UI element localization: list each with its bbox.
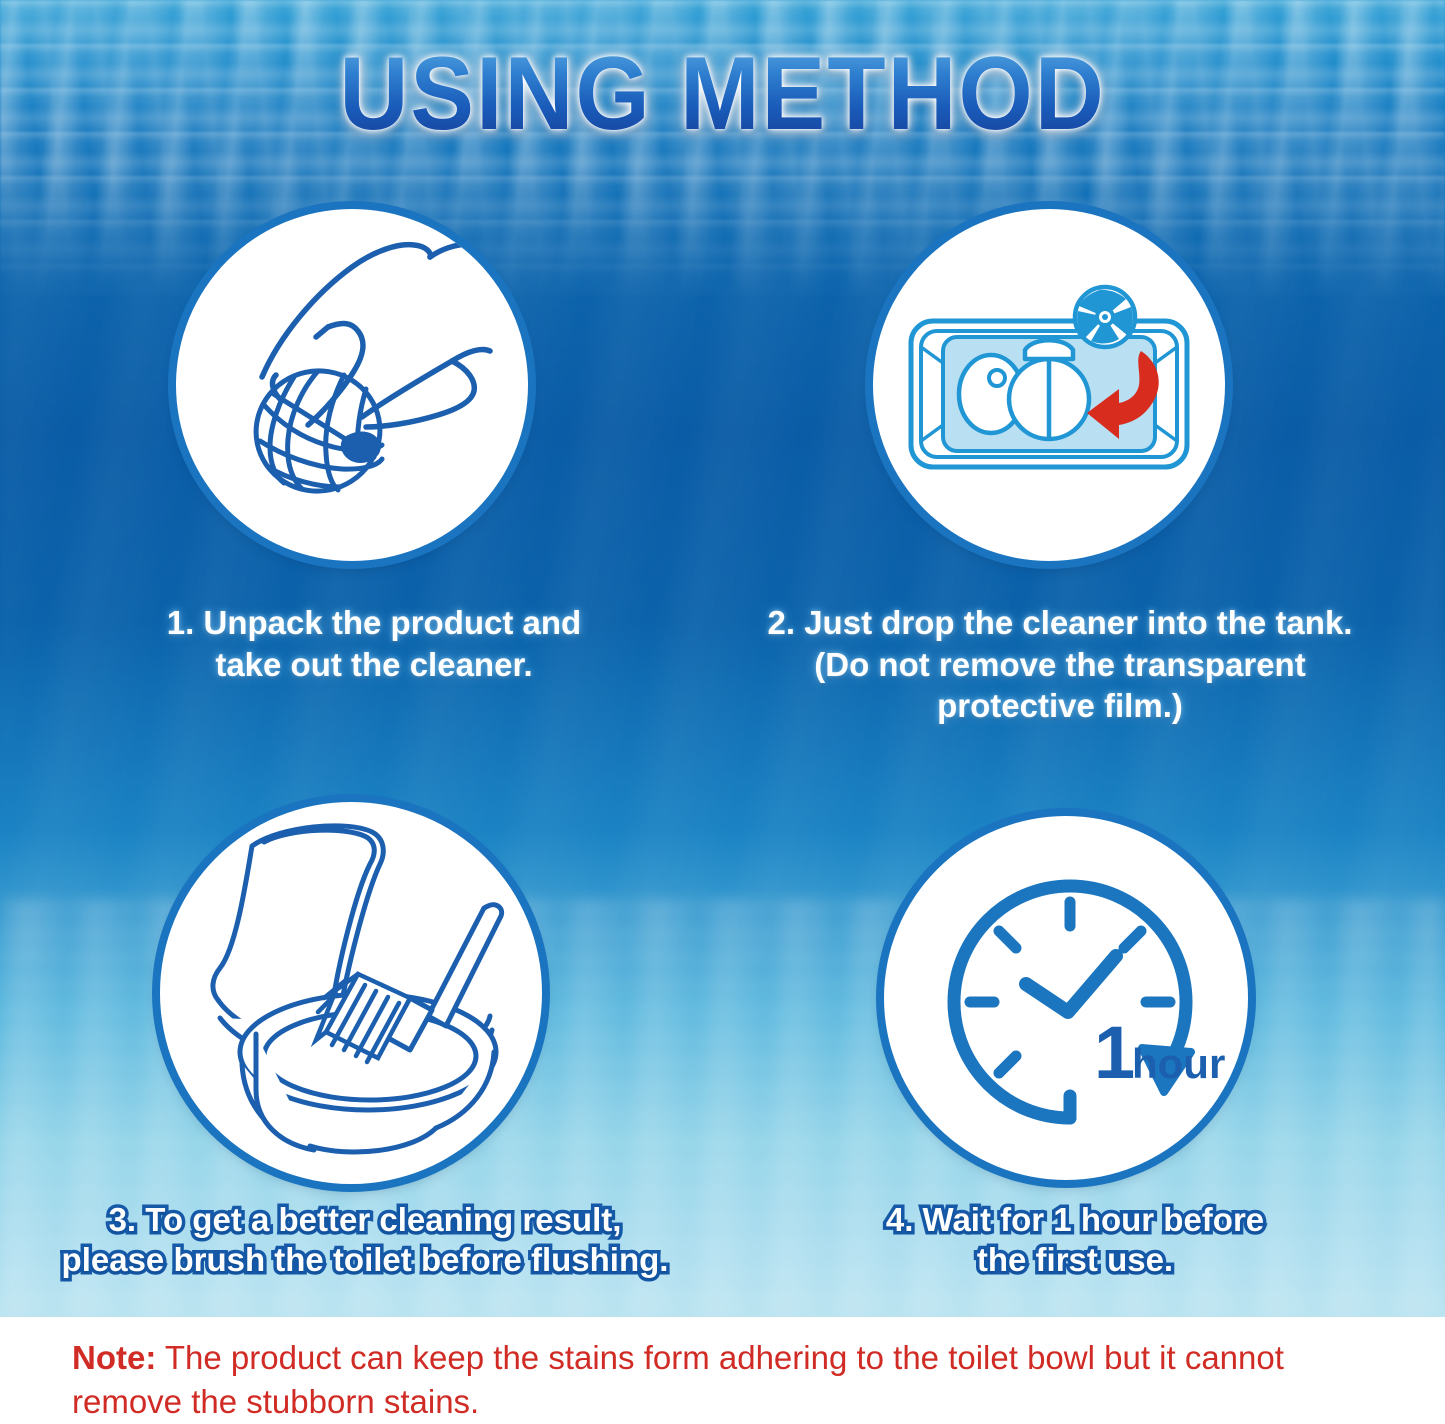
- clock-hours-unit: hour: [1132, 1040, 1225, 1087]
- step-4-icon-circle: 1 hour: [884, 816, 1248, 1180]
- note-text: Note: The product can keep the stains fo…: [72, 1336, 1382, 1423]
- note-body: The product can keep the stains form adh…: [72, 1339, 1284, 1420]
- step-3-caption: 3. To get a better cleaning result, plea…: [10, 1200, 720, 1281]
- step-3-icon-circle: [160, 802, 542, 1184]
- step-2-icon-circle: [873, 209, 1225, 561]
- step-1-icon-circle: [176, 209, 528, 561]
- step-2-caption: 2. Just drop the cleaner into the tank. …: [700, 602, 1420, 727]
- toilet-with-brush-icon: [160, 802, 542, 1184]
- step-1-caption: 1. Unpack the product and take out the c…: [64, 602, 684, 685]
- note-label: Note:: [72, 1339, 156, 1376]
- clock-one-hour-icon: 1 hour: [884, 816, 1248, 1180]
- toilet-tank-drop-cleaner-icon: [873, 209, 1225, 561]
- using-method-infographic: USING METHOD: [0, 0, 1445, 1424]
- page-title: USING METHOD: [58, 42, 1387, 146]
- step-4-caption: 4. Wait for 1 hour before the first use.: [770, 1200, 1380, 1281]
- clock-hours-value: 1: [1094, 1011, 1135, 1094]
- hand-holding-cleaner-ball-icon: [176, 209, 528, 561]
